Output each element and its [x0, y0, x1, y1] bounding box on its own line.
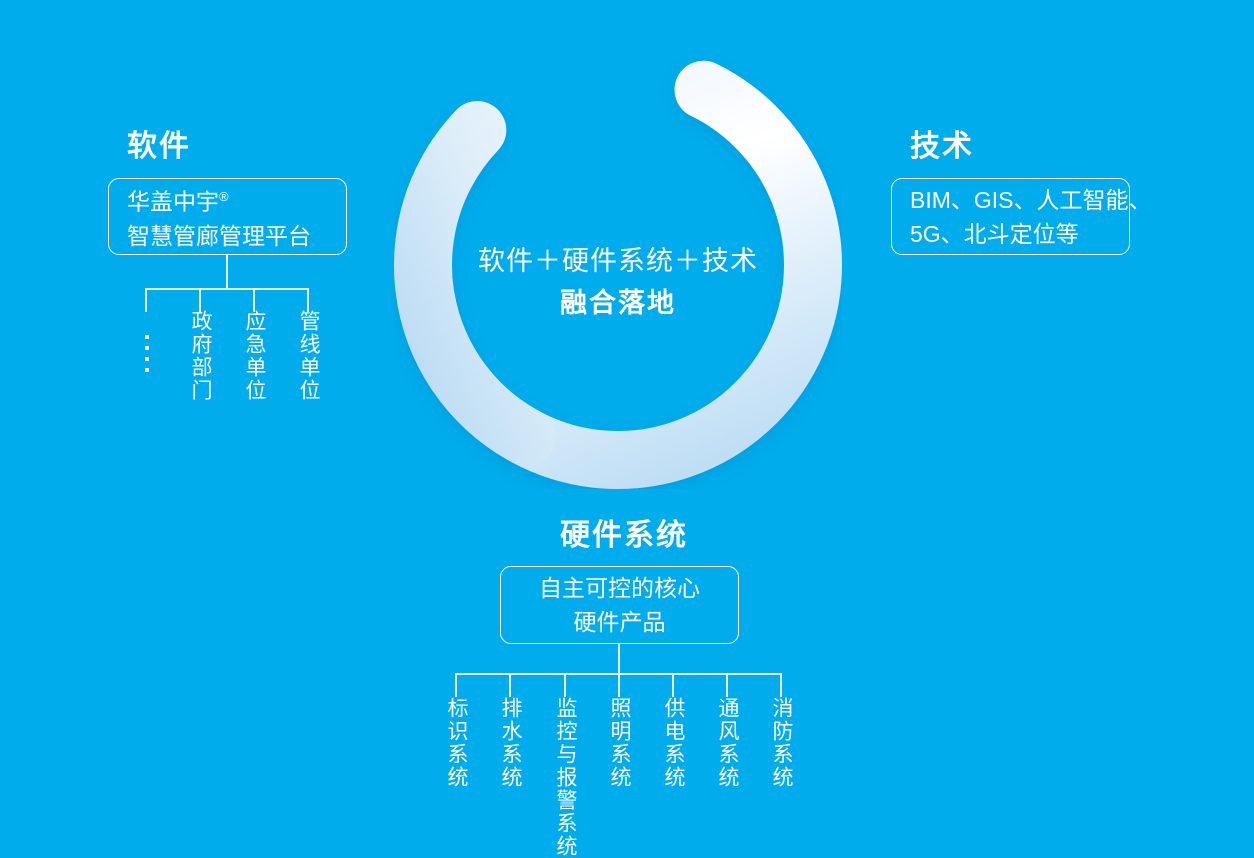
hardware-branch-line-6: [726, 673, 728, 697]
hardware-branch-label-5: 供电系统: [662, 697, 685, 789]
software-branch-label-2: 政府部门: [189, 310, 212, 402]
software-branch-label-4: 管线单位: [297, 310, 320, 402]
hardware-box: 自主可控的核心 硬件产品: [500, 566, 739, 644]
software-branch-line-4: [307, 288, 309, 312]
software-bus-line: [145, 288, 309, 290]
hardware-branch-label-4: 照明系统: [608, 697, 631, 789]
registered-trademark-icon: ®: [219, 189, 229, 204]
software-brand-name: 华盖中宇: [127, 189, 219, 215]
software-branch-label-1-ellipsis-icon: [144, 335, 149, 372]
software-trunk-line: [226, 255, 228, 288]
software-branch-label-3: 应急单位: [243, 310, 266, 402]
hardware-branch-label-6: 通风系统: [716, 697, 739, 789]
hardware-box-line-1: 自主可控的核心: [519, 571, 720, 605]
technology-box: BIM、GIS、人工智能、 5G、北斗定位等: [891, 178, 1130, 255]
software-branch-line-3: [253, 288, 255, 312]
software-box-line-1: 华盖中宇®: [127, 180, 328, 219]
hardware-box-line-2: 硬件产品: [519, 605, 720, 639]
software-box-line-2: 智慧管廊管理平台: [127, 219, 328, 253]
technology-section-title: 技术: [910, 130, 974, 164]
hardware-branch-line-7: [780, 673, 782, 697]
hardware-branch-label-7: 消防系统: [770, 697, 793, 789]
technology-box-line-2: 5G、北斗定位等: [910, 217, 1111, 251]
hardware-branch-label-1: 标识系统: [445, 697, 468, 789]
hardware-branch-line-2: [509, 673, 511, 697]
hardware-trunk-line: [618, 644, 620, 673]
software-branch-line-2: [199, 288, 201, 312]
hardware-section-title: 硬件系统: [560, 519, 688, 553]
diagram-canvas: 软件＋硬件系统＋技术 融合落地 软件 华盖中宇® 智慧管廊管理平台 政府部门 应…: [0, 0, 1254, 857]
software-branch-line-1: [145, 288, 147, 312]
hardware-branch-line-1: [455, 673, 457, 697]
center-line-2: 融合落地: [443, 282, 793, 324]
center-label: 软件＋硬件系统＋技术 融合落地: [443, 240, 793, 324]
hardware-branch-label-2: 排水系统: [499, 697, 522, 789]
hardware-branch-line-4: [618, 673, 620, 697]
hardware-branch-line-3: [564, 673, 566, 697]
technology-box-line-1: BIM、GIS、人工智能、: [910, 183, 1111, 217]
hardware-branch-label-3: 监控与报警系统: [554, 697, 577, 858]
center-line-1: 软件＋硬件系统＋技术: [443, 240, 793, 282]
software-section-title: 软件: [127, 130, 191, 164]
software-box: 华盖中宇® 智慧管廊管理平台: [108, 178, 347, 255]
hardware-branch-line-5: [672, 673, 674, 697]
